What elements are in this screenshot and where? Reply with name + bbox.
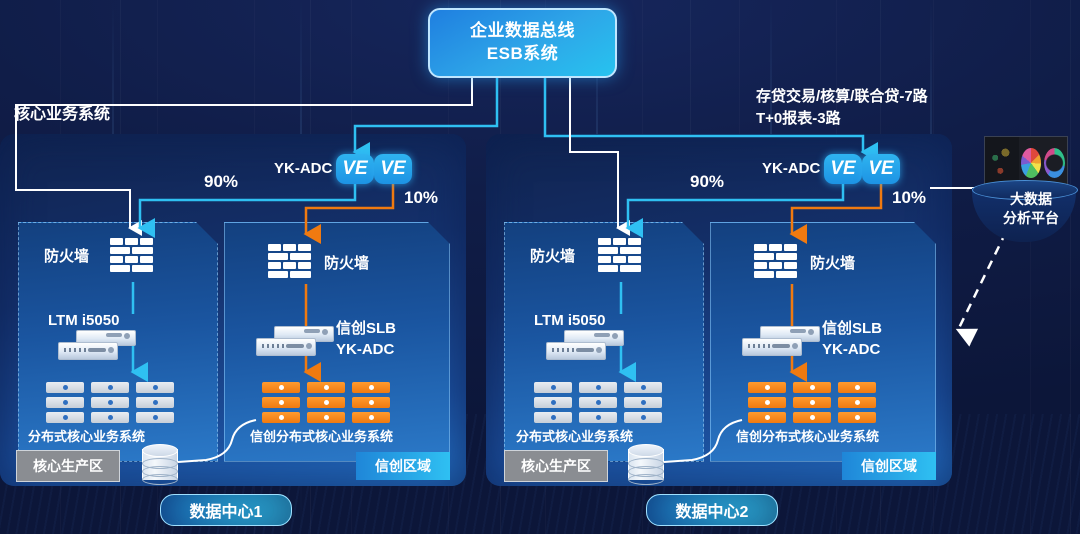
- dc1-adc-label: YK-ADC: [274, 160, 332, 177]
- dc2-core-server-grid: [534, 382, 662, 423]
- dc2-ve-node-1[interactable]: VE: [824, 154, 862, 184]
- dc2-core-firewall-label: 防火墙: [530, 245, 575, 266]
- dc1-footer-badge: 数据中心1: [160, 494, 292, 526]
- dc2-xc-firewall-label: 防火墙: [810, 252, 855, 273]
- ltm-appliance-icon: [58, 330, 134, 364]
- dc1-xc-appliance-line2: YK-ADC: [336, 339, 396, 360]
- right-traffic-annotation: 存贷交易/核算/联合贷-7路 T+0报表-3路: [756, 86, 928, 130]
- architecture-diagram-canvas: 企业数据总线 ESB系统 核心业务系统 存贷交易/核算/联合贷-7路 T+0报表…: [0, 0, 1080, 534]
- pie-chart-icon: [1021, 148, 1041, 178]
- dc2-xc-servers-label: 信创分布式核心业务系统: [736, 426, 879, 445]
- dc2-split-secondary: 10%: [892, 188, 926, 208]
- dc1-xc-firewall-label: 防火墙: [324, 252, 369, 273]
- dc1-xc-appliance-label: 信创SLB YK-ADC: [336, 318, 396, 360]
- bigdata-platform-label: 大数据 分析平台: [988, 190, 1074, 228]
- bigdata-label-line2: 分析平台: [988, 209, 1074, 228]
- dc2-core-appliance-label: LTM i5050: [534, 312, 605, 329]
- dc2-xc-zone-badge: 信创区域: [842, 452, 936, 480]
- dc2-adc-label: YK-ADC: [762, 160, 820, 177]
- dc1-core-firewall-label: 防火墙: [44, 245, 89, 266]
- bigdata-label-line1: 大数据: [988, 190, 1074, 209]
- slb-appliance-icon: [742, 326, 818, 360]
- slb-appliance-icon: [256, 326, 332, 360]
- core-business-system-label: 核心业务系统: [14, 100, 110, 124]
- dc2-ve-node-2[interactable]: VE: [862, 154, 900, 184]
- dc1-core-server-grid: [46, 382, 174, 423]
- firewall-icon: [268, 244, 314, 282]
- firewall-icon: [754, 244, 800, 282]
- dc2-core-servers-label: 分布式核心业务系统: [516, 426, 633, 445]
- firewall-icon: [110, 238, 156, 276]
- dc1-core-servers-label: 分布式核心业务系统: [28, 426, 145, 445]
- dc1-split-secondary: 10%: [404, 188, 438, 208]
- dc1-ve-node-1[interactable]: VE: [336, 154, 374, 184]
- esb-node[interactable]: 企业数据总线 ESB系统: [428, 8, 617, 78]
- esb-title-line1: 企业数据总线: [470, 20, 575, 43]
- firewall-icon: [598, 238, 644, 276]
- dc2-core-zone-badge: 核心生产区: [504, 450, 608, 482]
- right-traffic-line1: 存贷交易/核算/联合贷-7路: [756, 86, 928, 108]
- database-cylinder-icon: [142, 444, 176, 484]
- dc1-split-primary: 90%: [204, 172, 238, 192]
- dc1-xc-zone-badge: 信创区域: [356, 452, 450, 480]
- ltm-appliance-icon: [546, 330, 622, 364]
- dc2-xc-appliance-line2: YK-ADC: [822, 339, 882, 360]
- dc2-split-primary: 90%: [690, 172, 724, 192]
- dc1-xc-servers-label: 信创分布式核心业务系统: [250, 426, 393, 445]
- database-cylinder-icon: [628, 444, 662, 484]
- dc2-footer-badge: 数据中心2: [646, 494, 778, 526]
- dc2-xc-server-grid: [748, 382, 876, 423]
- dc2-xc-appliance-label: 信创SLB YK-ADC: [822, 318, 882, 360]
- esb-title-line2: ESB系统: [487, 43, 558, 66]
- dc2-xc-appliance-line1: 信创SLB: [822, 318, 882, 339]
- donut-chart-icon: [1044, 148, 1065, 178]
- dc1-core-appliance-label: LTM i5050: [48, 312, 119, 329]
- dc1-xc-appliance-line1: 信创SLB: [336, 318, 396, 339]
- right-traffic-line2: T+0报表-3路: [756, 108, 928, 130]
- dc1-ve-node-2[interactable]: VE: [374, 154, 412, 184]
- dc1-core-zone-badge: 核心生产区: [16, 450, 120, 482]
- dc1-xc-server-grid: [262, 382, 390, 423]
